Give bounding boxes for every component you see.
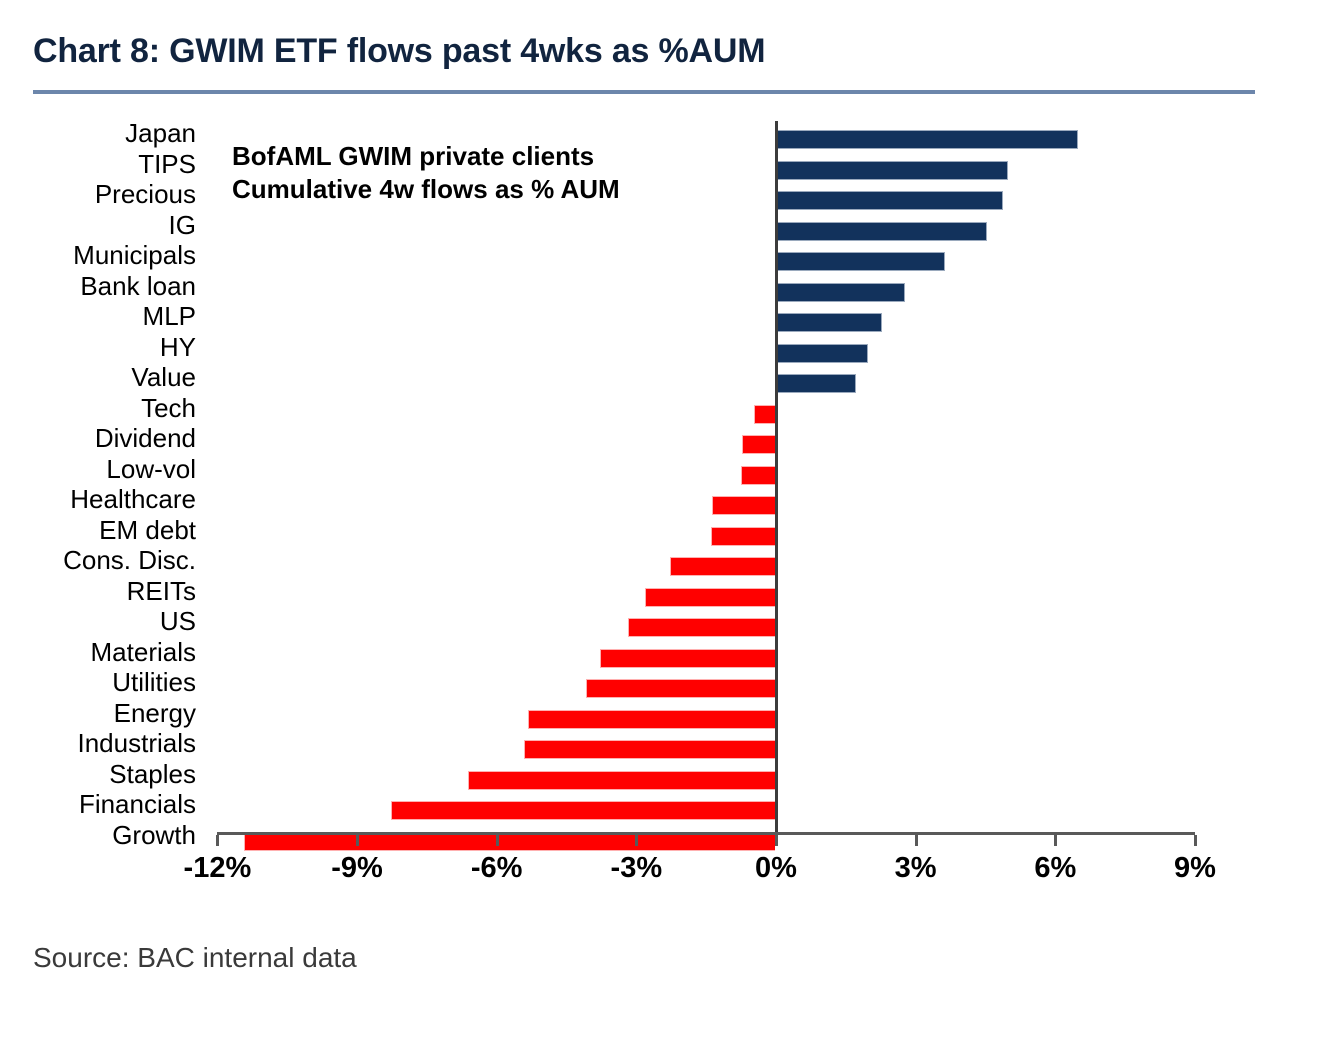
chart-figure: Chart 8: GWIM ETF flows past 4wks as %AU…	[0, 0, 1322, 1042]
bar-industrials	[524, 740, 775, 759]
zero-axis-line	[775, 121, 778, 833]
bar-japan	[775, 130, 1078, 149]
x-axis-tick	[356, 835, 359, 846]
bar-utilities	[586, 679, 775, 698]
bar-em-debt	[711, 527, 775, 546]
bar-mlp	[775, 313, 882, 332]
bar-low-vol	[741, 466, 775, 485]
x-axis-tick-label: -12%	[184, 852, 252, 885]
x-axis-tick-label: -6%	[471, 852, 523, 885]
bar-value	[775, 374, 856, 393]
x-axis-tick-label: 9%	[1174, 852, 1216, 885]
source-note: Source: BAC internal data	[33, 942, 357, 974]
bar-energy	[528, 710, 775, 729]
x-axis-tick-label: 6%	[1034, 852, 1076, 885]
bar-precious	[775, 191, 1003, 210]
bar-staples	[468, 771, 775, 790]
bar-tech	[754, 405, 775, 424]
x-axis-tick	[915, 835, 918, 846]
x-axis-tick	[1054, 835, 1057, 846]
bar-hy	[775, 344, 868, 363]
x-axis-tick-label: -9%	[331, 852, 383, 885]
bar-materials	[600, 649, 775, 668]
x-axis-tick-label: -3%	[611, 852, 663, 885]
bar-financials	[391, 801, 775, 820]
bar-bank-loan	[775, 283, 905, 302]
x-axis-tick-label: 0%	[755, 852, 797, 885]
x-axis-tick	[775, 835, 778, 846]
x-axis-tick-label: 3%	[895, 852, 937, 885]
bar-series	[0, 121, 1322, 826]
bar-ig	[775, 222, 987, 241]
bar-healthcare	[712, 496, 775, 515]
x-axis-tick	[216, 835, 219, 846]
x-axis-tick	[1194, 835, 1197, 846]
bar-reits	[645, 588, 775, 607]
bar-dividend	[742, 435, 775, 454]
bar-us	[628, 618, 775, 637]
bar-municipals	[775, 252, 945, 271]
bar-tips	[775, 161, 1008, 180]
bar-cons-disc	[670, 557, 775, 576]
title-divider	[33, 90, 1255, 94]
x-axis-tick	[635, 835, 638, 846]
x-axis-line	[217, 832, 1195, 835]
x-axis-tick	[496, 835, 499, 846]
page-title: Chart 8: GWIM ETF flows past 4wks as %AU…	[33, 32, 765, 71]
